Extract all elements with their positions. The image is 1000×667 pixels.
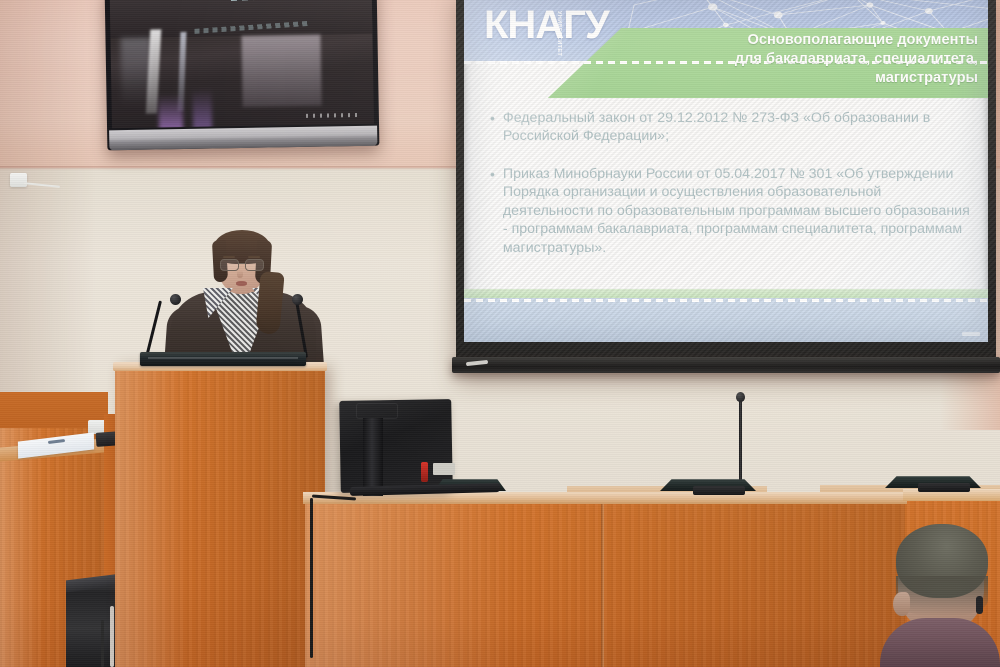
slide-bullet-1-text: Федеральный закон от 29.12.2012 № 273-ФЗ… [503,109,970,146]
glasses-lens-right [245,259,264,271]
speaker-glasses [219,259,264,270]
tv-purple-reflection-1 [159,94,183,128]
slide-footer-green-band [464,289,988,298]
slide-title: Основополагающие документы для бакалаври… [648,31,978,88]
podium [115,366,325,667]
slide-title-line-2: для бакалавриата, специалитета, [648,50,978,69]
wall-socket [10,173,27,187]
screen-pull-tab [466,360,488,366]
podium-console-highlight [148,357,298,359]
podium-mic-right-head [292,294,303,305]
podium-mic-left-head [170,294,181,305]
slide-bullet-2-text: Приказ Минобрнауки России от 05.04.2017 … [503,165,970,257]
monitor-label [433,463,455,475]
speaker-mouth [236,281,247,286]
wall-tv [105,0,380,150]
glasses-bridge [238,263,246,264]
bullet-marker-icon: • [490,109,495,146]
tv-purple-reflection-2 [193,88,212,128]
tv-screen [110,0,374,128]
podium-console [140,352,306,366]
slide-bullet-1: • Федеральный закон от 29.12.2012 № 273-… [490,109,970,146]
front-desk-sheen [305,502,905,667]
projected-slide: КНАГУ УНИВЕРСИТЕТ Основополагающие докум… [464,0,988,342]
mic-head-center [736,392,745,402]
monitor-stand [363,418,383,496]
tv-reflected-wall [241,35,321,107]
wall-corner-shadow-left [0,0,96,430]
bullet-marker-icon: • [490,165,495,257]
slide-footer-dashed-rule [464,299,988,302]
slide-bullet-2: • Приказ Минобрнауки России от 05.04.201… [490,165,970,257]
university-logo: КНАГУ [484,3,609,48]
audience-ear [893,592,910,616]
speaker-nose [237,270,243,278]
slide-body: • Федеральный закон от 29.12.2012 № 273-… [490,109,970,276]
slide-title-line-3: магистратуры [648,69,978,88]
audience-hair-fade [896,576,988,616]
mic-neck-center [739,398,742,480]
speaker-eyebrow-left [223,256,235,258]
pc-cable-2 [110,606,114,667]
monitor-red-connector [421,462,428,482]
front-desk-seam-1 [601,502,604,667]
pc-cable-3 [101,620,104,667]
monitor-back-hump [356,403,398,419]
slide-footer-blue-band [464,298,988,342]
mic-body-right [918,483,970,492]
glasses-lens-left [220,259,239,271]
university-logo-subtext: УНИВЕРСИТЕТ [556,11,562,56]
podium-sheen [115,366,325,667]
projection-screen-roller [452,357,1000,373]
projection-screen-frame: КНАГУ УНИВЕРСИТЕТ Основополагающие докум… [456,0,996,372]
slide-footer-tab [962,332,980,336]
slide-title-line-1: Основополагающие документы [648,31,978,50]
monitor-cable-vertical [310,498,313,658]
mic-body-center [693,486,745,495]
lecture-hall-photo: КНАГУ УНИВЕРСИТЕТ Основополагающие докум… [0,0,1000,667]
speaker-eyebrow-right [248,256,260,258]
tv-indicator-lights [306,113,358,118]
audience-earpiece [976,596,983,614]
front-desk-panel [305,502,905,667]
